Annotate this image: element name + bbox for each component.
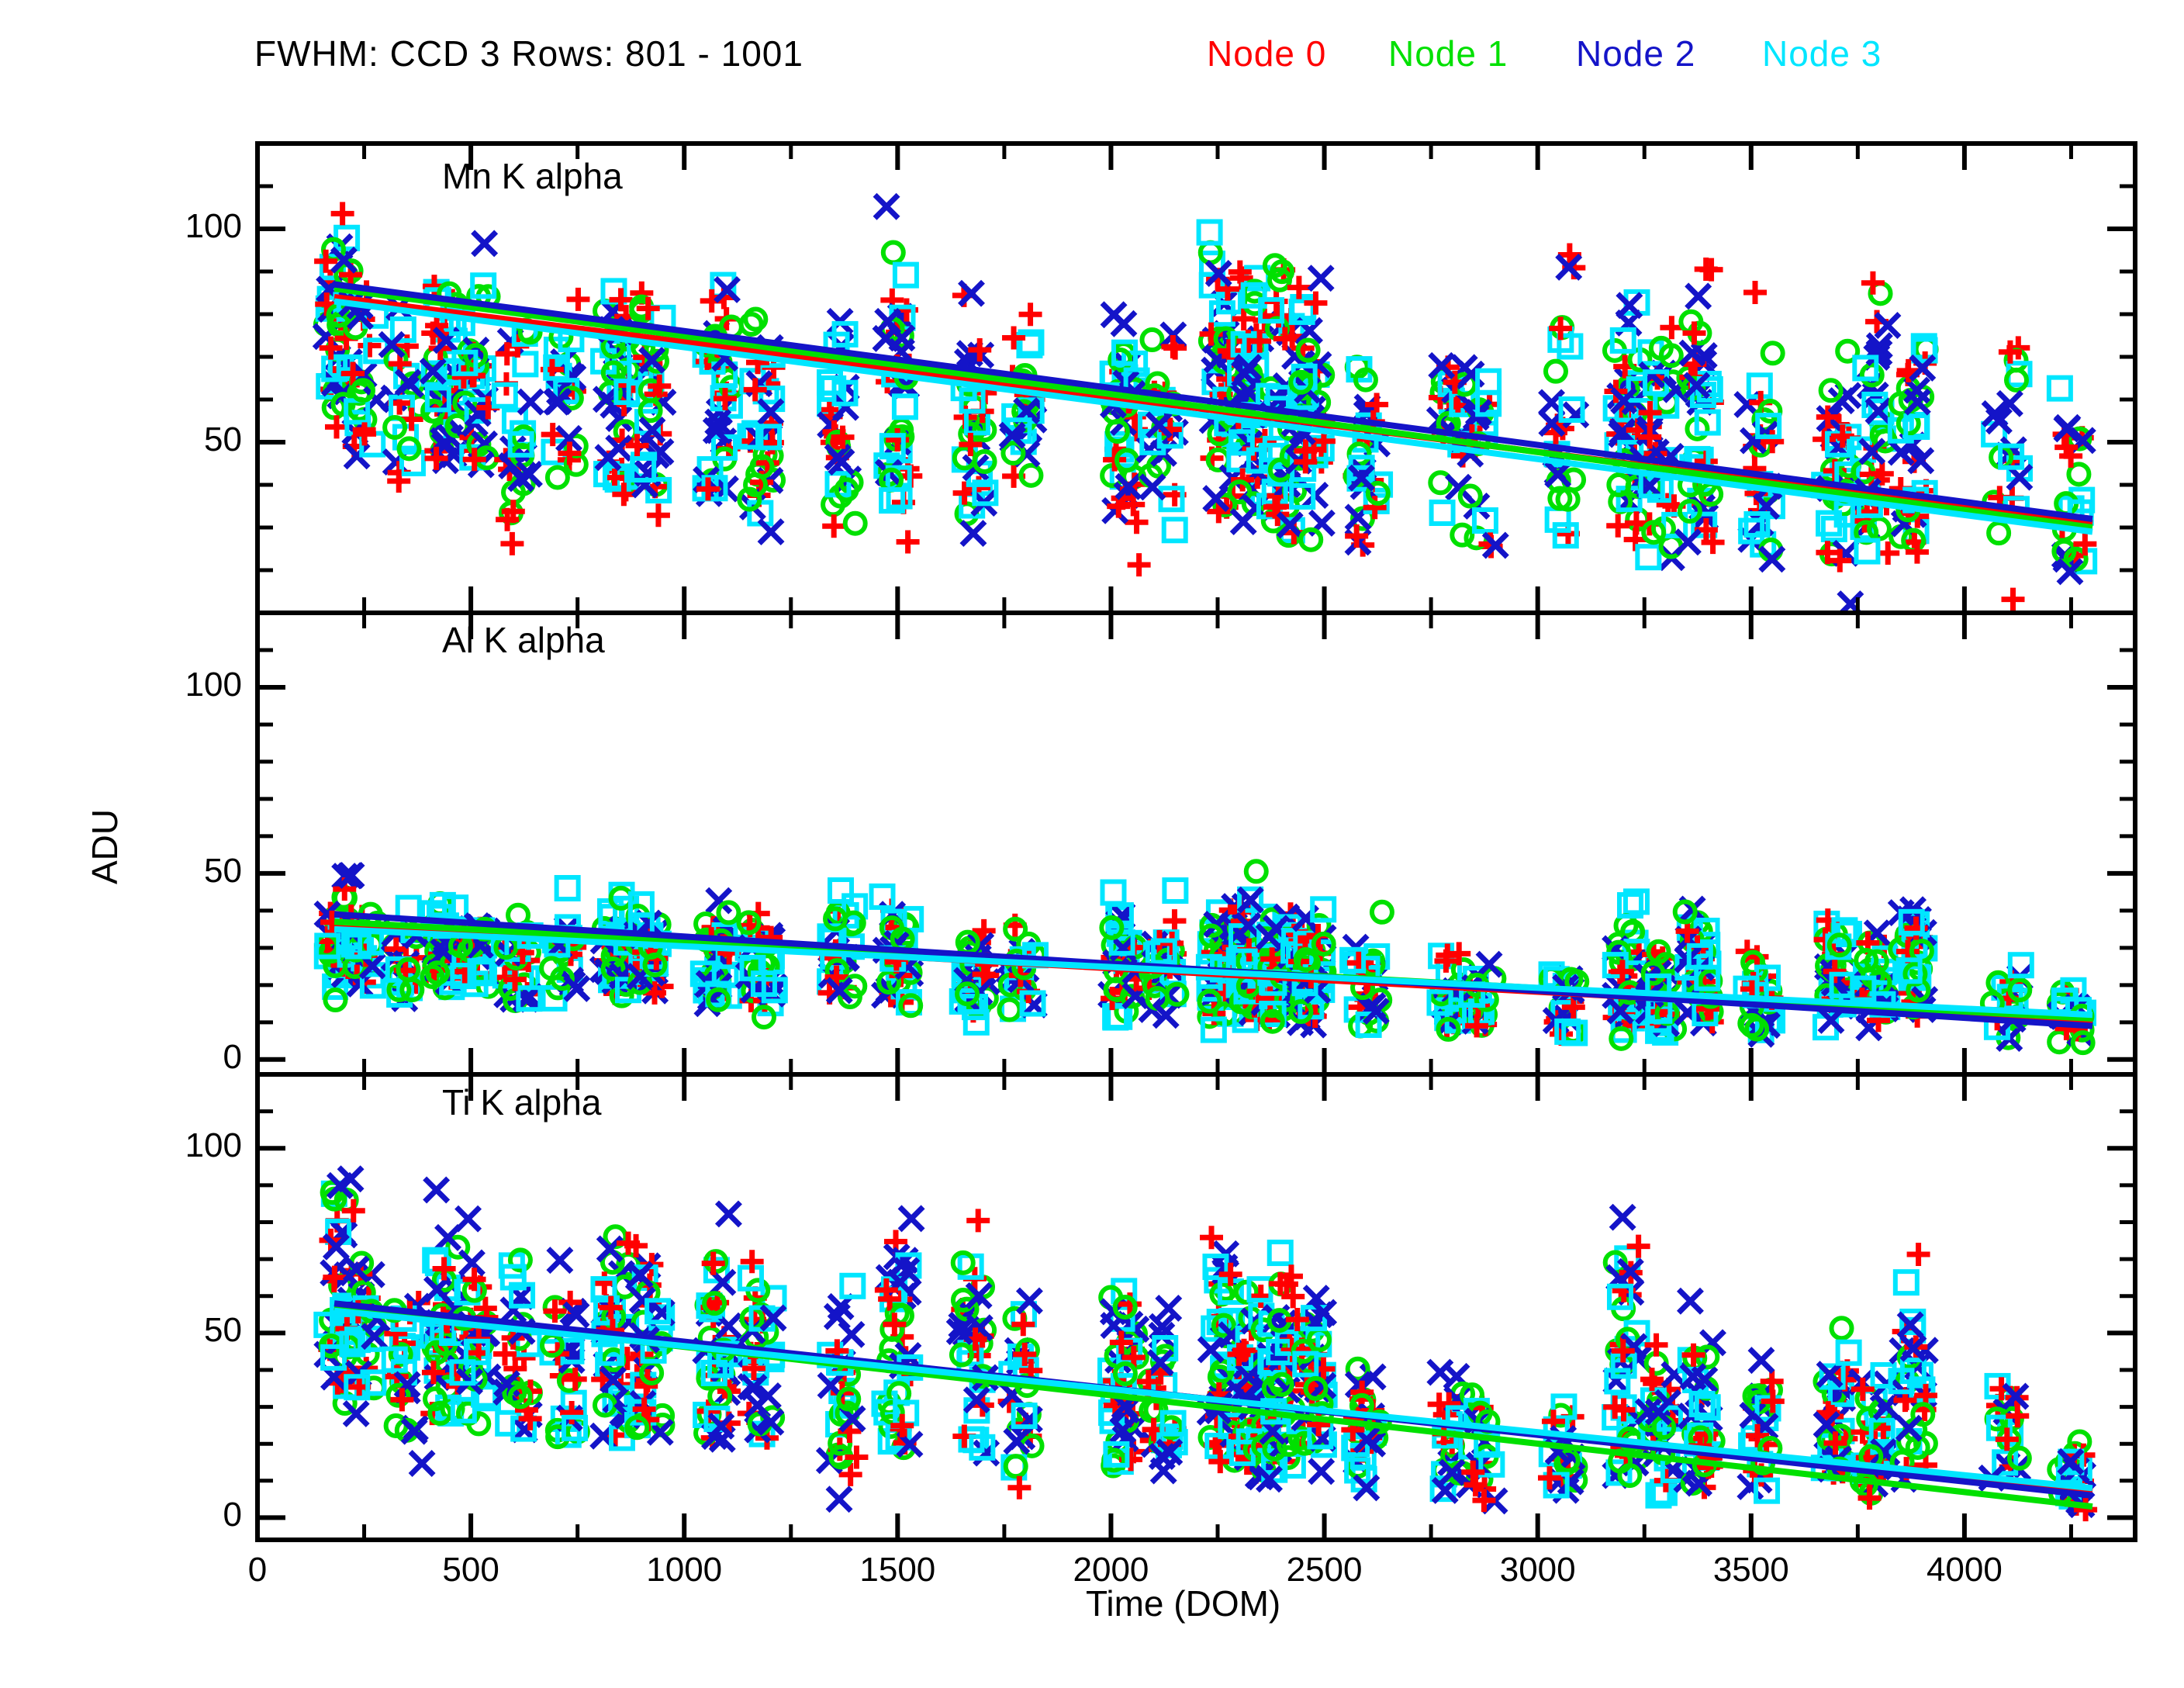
x-tick-label: 1000 (614, 1551, 754, 1589)
x-tick-label: 3000 (1468, 1551, 1608, 1589)
x-tick-label: 0 (188, 1551, 327, 1589)
y-tick-label: 0 (102, 1038, 242, 1077)
plot-canvas (0, 0, 2184, 1688)
y-tick-label: 100 (102, 666, 242, 704)
y-tick-label: 50 (102, 852, 242, 891)
x-tick-label: 1500 (828, 1551, 967, 1589)
plot-page: FWHM: CCD 3 Rows: 801 - 1001 Node 0 Node… (0, 0, 2184, 1688)
x-tick-label: 3500 (1681, 1551, 1821, 1589)
x-tick-label: 500 (401, 1551, 541, 1589)
y-tick-label: 100 (102, 1126, 242, 1165)
x-tick-label: 4000 (1895, 1551, 2034, 1589)
x-tick-label: 2500 (1255, 1551, 1394, 1589)
x-tick-label: 2000 (1041, 1551, 1180, 1589)
y-tick-label: 50 (102, 420, 242, 459)
y-tick-label: 50 (102, 1311, 242, 1350)
y-tick-label: 100 (102, 207, 242, 246)
y-tick-label: 0 (102, 1496, 242, 1534)
